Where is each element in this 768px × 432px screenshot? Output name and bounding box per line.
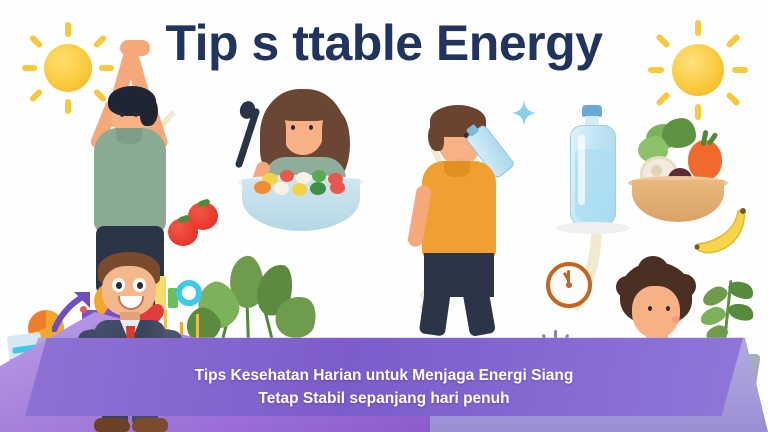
clock-icon <box>546 262 592 308</box>
banana-icon <box>694 208 750 256</box>
bottle-shadow <box>556 222 630 234</box>
sparkle-icon <box>512 100 536 126</box>
banner-line-2: Tetap Stabil sepanjang hari penuh <box>25 387 743 410</box>
person-eating-salad <box>236 85 376 225</box>
poster-canvas: Tip s ttable Energy <box>0 0 768 432</box>
banner-text: Tips Kesehatan Harian untuk Menjaga Ener… <box>25 364 743 410</box>
tomatoes-icon <box>166 200 222 250</box>
salad-bowl-icon <box>238 167 364 233</box>
water-bottle-icon <box>566 105 618 229</box>
banner-line-1: Tips Kesehatan Harian untuk Menjaga Ener… <box>25 364 743 387</box>
person-drinking-water <box>398 95 528 335</box>
